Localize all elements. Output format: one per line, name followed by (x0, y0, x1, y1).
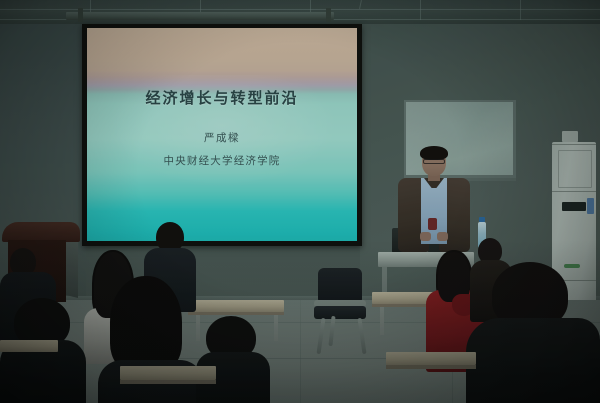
classroom-photo: 经济增长与转型前沿 严成樑 中央财经大学经济学院 (0, 0, 600, 403)
student-foreground (466, 262, 600, 403)
presenter (396, 148, 472, 256)
empty-chair-seat (314, 306, 366, 319)
cabinet-badge (587, 198, 594, 214)
cabinet-display (562, 202, 586, 211)
student-desk (0, 340, 58, 352)
projector-screen-roller (66, 12, 334, 20)
cabinet-top-box (562, 131, 578, 142)
glasses-icon (423, 159, 445, 164)
roller-bracket-right (326, 8, 331, 22)
presenter-hand-right (437, 232, 448, 241)
slide-author: 严成樑 (87, 130, 357, 145)
student-desk (120, 366, 216, 380)
slide-surface: 经济增长与转型前沿 严成樑 中央财经大学经济学院 (87, 28, 357, 241)
roller-bracket-left (78, 8, 83, 22)
presenter-hand-left (420, 232, 431, 241)
student-foreground (196, 316, 270, 403)
projection-screen: 经济增长与转型前沿 严成樑 中央财经大学经济学院 (82, 24, 362, 246)
student-desk (386, 352, 476, 365)
slide-affiliation: 中央财经大学经济学院 (87, 153, 357, 168)
slide-title: 经济增长与转型前沿 (87, 87, 357, 108)
presenter-held-object (428, 218, 437, 230)
presenter-hair (420, 146, 448, 160)
empty-chair-back (318, 268, 362, 302)
